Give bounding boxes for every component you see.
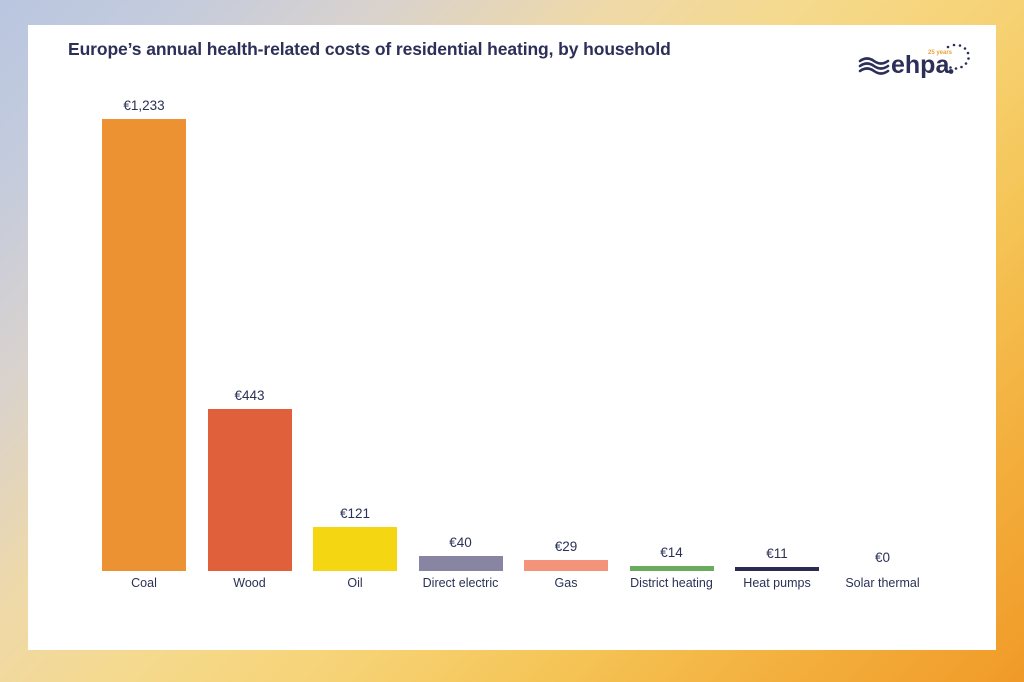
bar-group: €14District heating <box>630 25 714 650</box>
bar-group: €1,233Coal <box>102 25 186 650</box>
bar-group: €443Wood <box>208 25 292 650</box>
bar-category-label: Coal <box>131 576 157 590</box>
chart-card: Europe’s annual health-related costs of … <box>28 25 996 650</box>
bar-rect[interactable] <box>102 119 186 571</box>
bar-chart-plot: €1,233Coal€443Wood€121Oil€40Direct elect… <box>28 25 996 650</box>
bar-value-label: €443 <box>234 388 264 403</box>
bar-group: €121Oil <box>313 25 397 650</box>
bar-rect[interactable] <box>313 527 397 571</box>
bar-value-label: €29 <box>555 539 578 554</box>
bar-rect[interactable] <box>208 409 292 571</box>
bar-rect[interactable] <box>524 560 608 571</box>
bar-value-label: €1,233 <box>123 98 164 113</box>
bar-rect[interactable] <box>419 556 503 571</box>
bar-category-label: Oil <box>347 576 362 590</box>
bar-group: €11Heat pumps <box>735 25 819 650</box>
bar-value-label: €121 <box>340 506 370 521</box>
bar-value-label: €14 <box>660 545 683 560</box>
bar-category-label: Solar thermal <box>845 576 919 590</box>
bar-group: €0Solar thermal <box>841 25 925 650</box>
poster-frame: Europe’s annual health-related costs of … <box>0 0 1024 682</box>
bar-rect[interactable] <box>735 567 819 571</box>
bar-category-label: Direct electric <box>423 576 499 590</box>
bar-value-label: €11 <box>766 546 788 561</box>
bar-category-label: Wood <box>233 576 265 590</box>
bar-value-label: €40 <box>449 535 472 550</box>
bar-group: €40Direct electric <box>419 25 503 650</box>
bar-category-label: District heating <box>630 576 713 590</box>
bar-value-label: €0 <box>875 550 890 565</box>
bar-rect[interactable] <box>630 566 714 571</box>
bar-category-label: Heat pumps <box>743 576 810 590</box>
bar-group: €29Gas <box>524 25 608 650</box>
bar-category-label: Gas <box>555 576 578 590</box>
